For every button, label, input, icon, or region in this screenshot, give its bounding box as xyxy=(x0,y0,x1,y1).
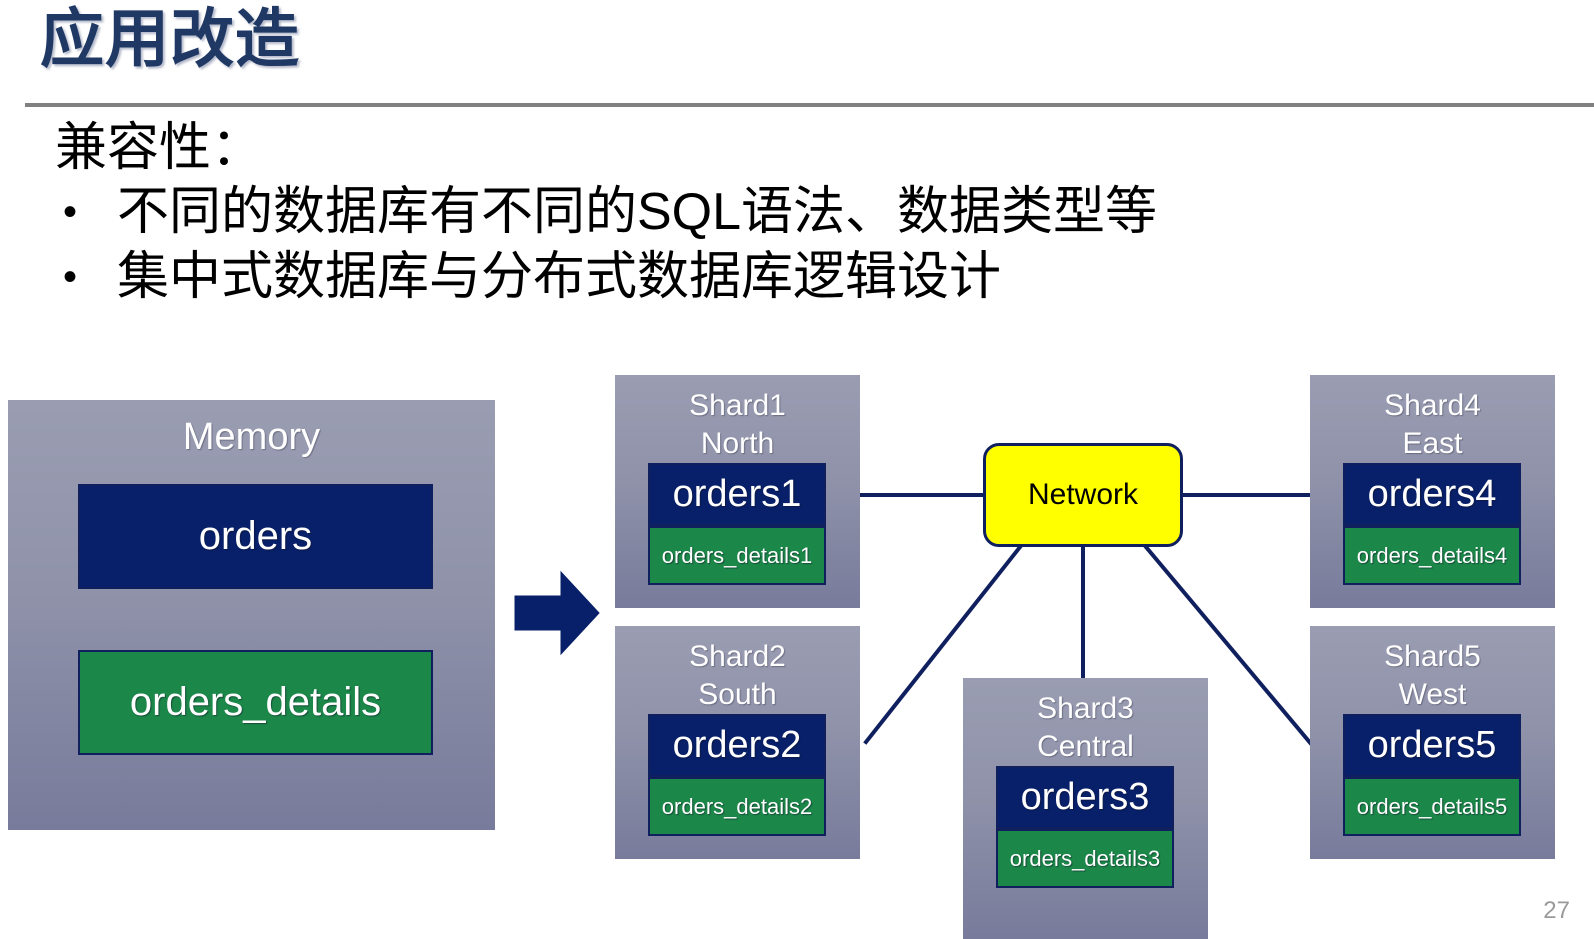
shard3-table-orders: orders3 xyxy=(996,766,1174,829)
shard4-table-orders: orders4 xyxy=(1343,463,1521,526)
shard1-table-orders-label: orders1 xyxy=(673,473,802,516)
shard5-table-details: orders_details5 xyxy=(1343,777,1521,836)
memory-table-orders-details: orders_details xyxy=(78,650,433,755)
shard1-panel: Shard1 North orders1 orders_details1 xyxy=(615,375,860,608)
shard1-title-line2: North xyxy=(615,425,860,463)
shard1-table-orders: orders1 xyxy=(648,463,826,526)
transform-arrow-icon xyxy=(513,568,601,658)
shard4-table-details-label: orders_details4 xyxy=(1357,543,1507,569)
shard1-title-line1: Shard1 xyxy=(615,387,860,425)
shard4-title-line1: Shard4 xyxy=(1310,387,1555,425)
shard2-title-line2: South xyxy=(615,676,860,714)
architecture-diagram: Memory orders orders_details Network Sha… xyxy=(0,0,1594,939)
slide-canvas: 应用改造 兼容性： • 不同的数据库有不同的SQL语法、数据类型等 • 集中式数… xyxy=(0,0,1594,939)
shard1-table-details-label: orders_details1 xyxy=(662,543,812,569)
page-number: 27 xyxy=(1543,897,1570,925)
network-node: Network xyxy=(983,443,1183,547)
shard4-title-line2: East xyxy=(1310,425,1555,463)
shard2-table-details-label: orders_details2 xyxy=(662,794,812,820)
memory-table-orders-details-label: orders_details xyxy=(130,680,381,725)
network-node-label: Network xyxy=(1028,478,1138,512)
shard3-table-details: orders_details3 xyxy=(996,829,1174,888)
shard2-table-details: orders_details2 xyxy=(648,777,826,836)
shard5-title-line1: Shard5 xyxy=(1310,638,1555,676)
shard4-table-orders-label: orders4 xyxy=(1368,473,1497,516)
memory-table-orders-label: orders xyxy=(199,514,312,559)
shard3-table-details-label: orders_details3 xyxy=(1010,846,1160,872)
shard5-table-orders: orders5 xyxy=(1343,714,1521,777)
shard3-title-line1: Shard3 xyxy=(963,690,1208,728)
shard3-panel: Shard3 Central orders3 orders_details3 xyxy=(963,678,1208,939)
memory-table-orders: orders xyxy=(78,484,433,589)
shard5-panel: Shard5 West orders5 orders_details5 xyxy=(1310,626,1555,859)
shard3-title-line2: Central xyxy=(963,728,1208,766)
shard4-panel: Shard4 East orders4 orders_details4 xyxy=(1310,375,1555,608)
shard2-table-orders: orders2 xyxy=(648,714,826,777)
memory-panel: Memory orders orders_details xyxy=(8,400,495,830)
shard4-table-details: orders_details4 xyxy=(1343,526,1521,585)
shard2-title-line1: Shard2 xyxy=(615,638,860,676)
memory-panel-title: Memory xyxy=(8,414,495,462)
shard5-table-orders-label: orders5 xyxy=(1368,724,1497,767)
shard5-title-line2: West xyxy=(1310,676,1555,714)
shard1-table-details: orders_details1 xyxy=(648,526,826,585)
shard5-table-details-label: orders_details5 xyxy=(1357,794,1507,820)
shard3-table-orders-label: orders3 xyxy=(1021,776,1150,819)
shard2-table-orders-label: orders2 xyxy=(673,724,802,767)
shard2-panel: Shard2 South orders2 orders_details2 xyxy=(615,626,860,859)
